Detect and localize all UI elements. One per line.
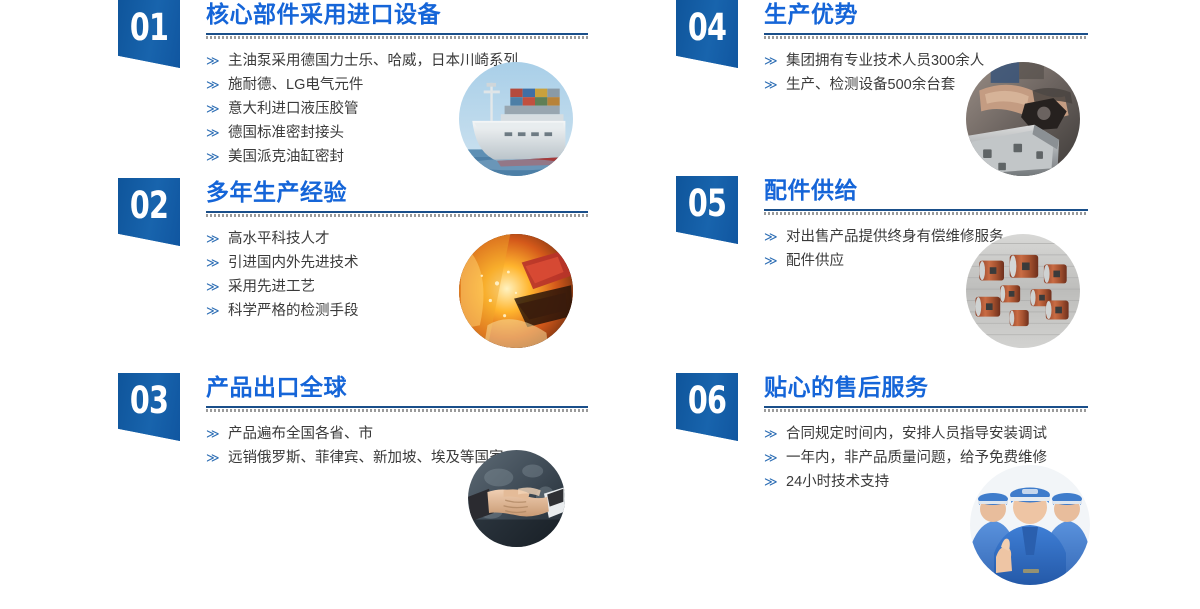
list-item-label: 集团拥有专业技术人员300余人 [786, 53, 984, 69]
double-chevron-icon: ≫ [764, 446, 780, 470]
machining-workshop-photo [966, 62, 1080, 176]
badge-number-text: 05 [680, 182, 733, 226]
list-item-label: 产品遍布全国各省、市 [228, 426, 373, 442]
copper-spare-parts-photo [966, 234, 1080, 348]
title-divider [206, 33, 588, 39]
number-badge-06: 06 [676, 373, 738, 441]
title-divider [764, 33, 1088, 39]
number-badge-02: 02 [118, 178, 180, 246]
double-chevron-icon: ≫ [206, 49, 222, 73]
double-chevron-icon: ≫ [206, 251, 222, 275]
divider-dotted-line [764, 36, 1088, 39]
block-title: 产品出口全球 [206, 373, 588, 401]
list-item-label: 意大利进口液压胶管 [228, 101, 359, 117]
divider-solid-line [764, 33, 1088, 35]
list-item-label: 引进国内外先进技术 [228, 255, 359, 271]
double-chevron-icon: ≫ [206, 97, 222, 121]
badge-number-text: 06 [680, 379, 733, 423]
divider-dotted-line [206, 409, 588, 412]
title-divider [764, 209, 1088, 215]
list-item-label: 24小时技术支持 [786, 474, 889, 490]
block-title: 配件供给 [764, 176, 1088, 204]
list-item-label: 科学严格的检测手段 [228, 303, 359, 319]
handshake-globe-photo [468, 450, 565, 547]
divider-dotted-line [764, 409, 1088, 412]
double-chevron-icon: ≫ [206, 145, 222, 169]
number-badge-03: 03 [118, 373, 180, 441]
divider-solid-line [206, 406, 588, 408]
list-item-label: 生产、检测设备500余台套 [786, 77, 955, 93]
title-divider [206, 211, 588, 217]
badge-number-text: 01 [122, 6, 175, 50]
divider-solid-line [764, 209, 1088, 211]
double-chevron-icon: ≫ [206, 446, 222, 470]
list-item-label: 主油泵采用德国力士乐、哈威，日本川崎系列 [228, 53, 518, 69]
badge-number-text: 03 [122, 379, 175, 423]
title-divider [764, 406, 1088, 412]
badge-number-text: 04 [680, 6, 733, 50]
list-item-label: 配件供应 [786, 253, 844, 269]
list-item-label: 对出售产品提供终身有偿维修服务 [786, 229, 1004, 245]
list-item-label: 远销俄罗斯、菲律宾、新加坡、埃及等国家 [228, 450, 504, 466]
divider-dotted-line [206, 36, 588, 39]
double-chevron-icon: ≫ [764, 422, 780, 446]
list-item-label: 美国派克油缸密封 [228, 149, 344, 165]
list-item-label: 一年内，非产品质量问题，给予免费维修 [786, 450, 1047, 466]
divider-solid-line [206, 33, 588, 35]
list-item: ≫合同规定时间内，安排人员指导安装调试 [764, 422, 1088, 446]
badge-number-text: 02 [122, 184, 175, 228]
list-item-label: 合同规定时间内，安排人员指导安装调试 [786, 426, 1047, 442]
double-chevron-icon: ≫ [206, 73, 222, 97]
container-ship-photo [459, 62, 573, 176]
double-chevron-icon: ≫ [764, 225, 780, 249]
block-title: 生产优势 [764, 0, 1088, 28]
number-badge-04: 04 [676, 0, 738, 68]
number-badge-01: 01 [118, 0, 180, 68]
double-chevron-icon: ≫ [764, 249, 780, 273]
double-chevron-icon: ≫ [206, 121, 222, 145]
double-chevron-icon: ≫ [206, 227, 222, 251]
advantages-infographic: 01 核心部件采用进口设备 ≫主油泵采用德国力士乐、哈威，日本川崎系列 ≫施耐德… [0, 0, 1200, 609]
list-item: ≫产品遍布全国各省、市 [206, 422, 588, 446]
list-item-label: 采用先进工艺 [228, 279, 315, 295]
block-title: 多年生产经验 [206, 178, 588, 206]
double-chevron-icon: ≫ [764, 49, 780, 73]
double-chevron-icon: ≫ [764, 470, 780, 494]
welding-sparks-photo [459, 234, 573, 348]
list-item-label: 高水平科技人才 [228, 231, 330, 247]
double-chevron-icon: ≫ [206, 275, 222, 299]
double-chevron-icon: ≫ [206, 422, 222, 446]
divider-dotted-line [206, 214, 588, 217]
double-chevron-icon: ≫ [206, 299, 222, 323]
divider-solid-line [206, 211, 588, 213]
divider-solid-line [764, 406, 1088, 408]
title-divider [206, 406, 588, 412]
double-chevron-icon: ≫ [764, 73, 780, 97]
block-title: 贴心的售后服务 [764, 373, 1088, 401]
list-item-label: 德国标准密封接头 [228, 125, 344, 141]
block-title: 核心部件采用进口设备 [206, 0, 588, 28]
service-team-photo [970, 465, 1090, 585]
divider-dotted-line [764, 212, 1088, 215]
list-item-label: 施耐德、LG电气元件 [228, 77, 363, 93]
number-badge-05: 05 [676, 176, 738, 244]
